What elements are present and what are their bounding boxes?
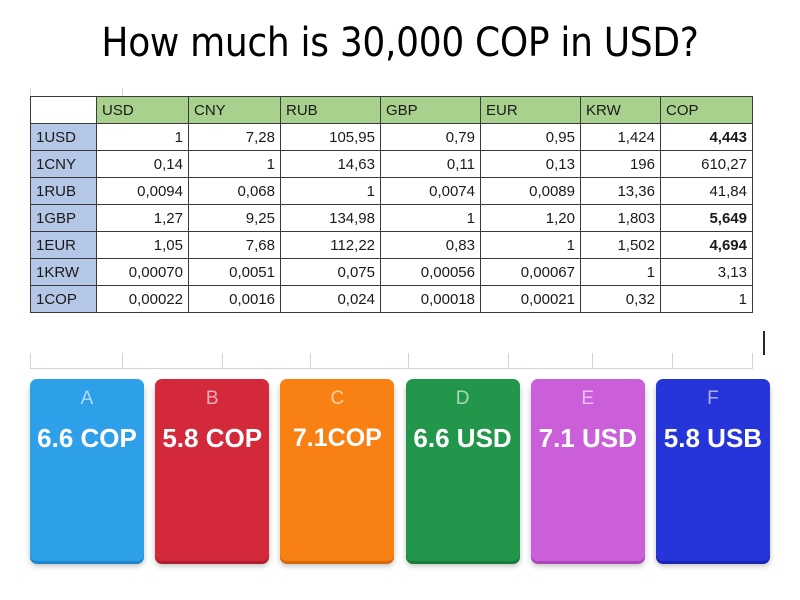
table-body: 1USD17,28105,950,790,951,4244,4431CNY0,1… [31, 124, 753, 313]
table-cell: 0,0074 [381, 178, 481, 205]
table-cell: 5,649 [661, 205, 753, 232]
table-cell: 0,14 [97, 151, 189, 178]
table-row-header-1cny: 1CNY [31, 151, 97, 178]
table-cell: 1 [281, 178, 381, 205]
table-row: 1COP0,000220,00160,0240,000180,000210,32… [31, 286, 753, 313]
table-row-header-1eur: 1EUR [31, 232, 97, 259]
table-row-header-1gbp: 1GBP [31, 205, 97, 232]
grid-line [30, 353, 31, 369]
table-corner-cell [31, 97, 97, 124]
table-row-header-1rub: 1RUB [31, 178, 97, 205]
table-cell: 0,13 [481, 151, 581, 178]
table-cell: 0,79 [381, 124, 481, 151]
answer-text: 6.6 USD [409, 424, 515, 453]
answer-option-d[interactable]: D6.6 USD [406, 379, 520, 561]
grid-line [672, 353, 673, 369]
table-cell: 0,00070 [97, 259, 189, 286]
table-column-header-usd: USD [97, 97, 189, 124]
table-column-header-cop: COP [661, 97, 753, 124]
table-column-header-eur: EUR [481, 97, 581, 124]
answer-option-f[interactable]: F5.8 USB [656, 379, 770, 561]
table-cell: 196 [581, 151, 661, 178]
table-cell: 4,443 [661, 124, 753, 151]
table-cell: 1 [581, 259, 661, 286]
table-cell: 105,95 [281, 124, 381, 151]
table-row: 1GBP1,279,25134,9811,201,8035,649 [31, 205, 753, 232]
table-cell: 0,00056 [381, 259, 481, 286]
table-cell: 0,83 [381, 232, 481, 259]
table-cell: 3,13 [661, 259, 753, 286]
exchange-rate-table: USDCNYRUBGBPEURKRWCOP 1USD17,28105,950,7… [30, 96, 752, 313]
grid-line [310, 353, 311, 369]
answer-letter: E [581, 387, 594, 410]
table-cell: 9,25 [189, 205, 281, 232]
grid-line [122, 88, 123, 96]
table-cell: 0,00022 [97, 286, 189, 313]
table-cell: 7,28 [189, 124, 281, 151]
answer-letter: B [206, 387, 219, 410]
table-cell: 1,27 [97, 205, 189, 232]
table-cell: 41,84 [661, 178, 753, 205]
table-cell: 14,63 [281, 151, 381, 178]
table-header-row: USDCNYRUBGBPEURKRWCOP [31, 97, 753, 124]
table-cell: 1,05 [97, 232, 189, 259]
table-cell: 0,11 [381, 151, 481, 178]
table-cell: 0,0016 [189, 286, 281, 313]
quiz-slide: How much is 30,000 COP in USD? USDCNYRUB… [0, 0, 800, 600]
table-column-header-rub: RUB [281, 97, 381, 124]
table-row: 1KRW0,000700,00510,0750,000560,0006713,1… [31, 259, 753, 286]
table-cell: 1,803 [581, 205, 661, 232]
table-cell: 1,502 [581, 232, 661, 259]
table-row-header-1cop: 1COP [31, 286, 97, 313]
grid-line [408, 353, 409, 369]
table-row: 1RUB0,00940,06810,00740,008913,3641,84 [31, 178, 753, 205]
answer-text: 5.8 COP [158, 424, 266, 453]
table-row: 1EUR1,057,68112,220,8311,5024,694 [31, 232, 753, 259]
grid-line [592, 353, 593, 369]
table-cell: 7,68 [189, 232, 281, 259]
grid-line [752, 353, 753, 369]
grid-line [122, 353, 123, 369]
table-cell: 1 [381, 205, 481, 232]
table-cell: 0,024 [281, 286, 381, 313]
grid-line [30, 88, 31, 96]
answer-letter: C [331, 387, 345, 410]
table-row-header-1krw: 1KRW [31, 259, 97, 286]
table-cell: 112,22 [281, 232, 381, 259]
answer-options: A6.6 COPB5.8 COPC7.1COPD6.6 USDE7.1 USDF… [30, 379, 770, 561]
rate-table: USDCNYRUBGBPEURKRWCOP 1USD17,28105,950,7… [30, 96, 753, 313]
answer-option-b[interactable]: B5.8 COP [155, 379, 269, 561]
answer-letter: F [707, 387, 719, 410]
table-column-header-cny: CNY [189, 97, 281, 124]
table-cell: 0,0051 [189, 259, 281, 286]
answer-text: 5.8 USB [660, 424, 766, 453]
table-column-header-krw: KRW [581, 97, 661, 124]
answer-option-a[interactable]: A6.6 COP [30, 379, 144, 561]
table-cell: 0,95 [481, 124, 581, 151]
grid-line [30, 368, 752, 369]
grid-line [222, 353, 223, 369]
table-cell: 1,20 [481, 205, 581, 232]
table-cell: 1 [481, 232, 581, 259]
table-cell: 0,00067 [481, 259, 581, 286]
table-cell: 0,00021 [481, 286, 581, 313]
table-cell: 1 [189, 151, 281, 178]
table-cell: 0,00018 [381, 286, 481, 313]
page-title: How much is 30,000 COP in USD? [0, 18, 800, 68]
table-cell: 4,694 [661, 232, 753, 259]
table-column-header-gbp: GBP [381, 97, 481, 124]
table-cell: 0,068 [189, 178, 281, 205]
table-cell: 1,424 [581, 124, 661, 151]
grid-line [508, 353, 509, 369]
table-cell: 0,0094 [97, 178, 189, 205]
table-row-header-1usd: 1USD [31, 124, 97, 151]
table-cell: 610,27 [661, 151, 753, 178]
answer-text: 7.1COP [291, 424, 384, 453]
answer-text: 6.6 COP [33, 424, 141, 453]
answer-text: 7.1 USD [535, 424, 641, 453]
table-row: 1CNY0,14114,630,110,13196610,27 [31, 151, 753, 178]
table-row: 1USD17,28105,950,790,951,4244,443 [31, 124, 753, 151]
text-cursor [763, 331, 765, 355]
table-cell: 134,98 [281, 205, 381, 232]
table-cell: 1 [661, 286, 753, 313]
table-cell: 0,32 [581, 286, 661, 313]
table-cell: 1 [97, 124, 189, 151]
table-cell: 0,075 [281, 259, 381, 286]
table-cell: 13,36 [581, 178, 661, 205]
answer-option-c[interactable]: C7.1COP [280, 379, 394, 561]
answer-option-e[interactable]: E7.1 USD [531, 379, 645, 561]
answer-letter: A [81, 387, 94, 410]
answer-letter: D [456, 387, 470, 410]
table-cell: 0,0089 [481, 178, 581, 205]
